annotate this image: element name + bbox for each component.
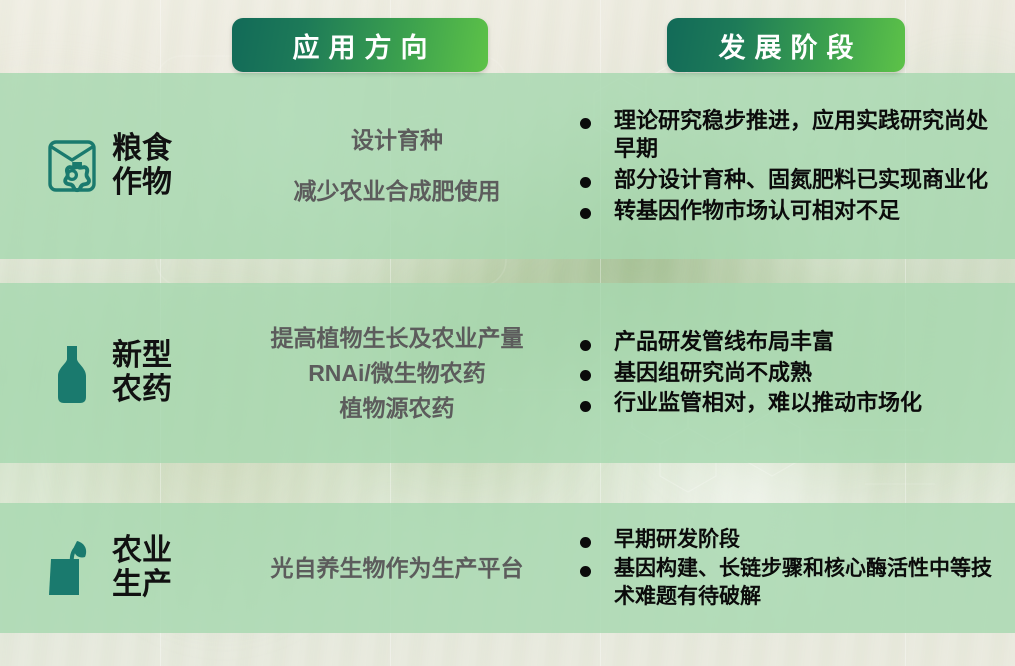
category-cell: 农业 生产 xyxy=(0,534,232,601)
list-item: 部分设计育种、固氮肥料已实现商业化 xyxy=(570,166,1005,195)
category-cell: 新型 农药 xyxy=(0,339,232,406)
list-item: 理论研究稳步推进，应用实践研究尚处早期 xyxy=(570,107,1005,164)
table-row: 新型 农药 提高植物生长及农业产量 RNAi/微生物农药 植物源农药 产品研发管… xyxy=(0,283,1015,463)
category-label: 农业 生产 xyxy=(112,534,172,601)
application-item: 提高植物生长及农业产量 xyxy=(232,327,562,350)
stage-cell: 早期研发阶段 基因构建、长链步骤和核心酶活性中等技术难题有待破解 xyxy=(562,526,1015,610)
application-item: 设计育种 xyxy=(232,129,562,152)
stage-list: 理论研究稳步推进，应用实践研究尚处早期 部分设计育种、固氮肥料已实现商业化 转基… xyxy=(570,107,1005,225)
stage-list: 早期研发阶段 基因构建、长链步骤和核心酶活性中等技术难题有待破解 xyxy=(570,526,1005,610)
application-item: 减少农业合成肥使用 xyxy=(232,180,562,203)
application-cell: 设计育种 减少农业合成肥使用 xyxy=(232,129,562,203)
category-label: 粮食 作物 xyxy=(112,132,172,199)
list-item: 基因构建、长链步骤和核心酶活性中等技术难题有待破解 xyxy=(570,555,1005,610)
seed-packet-icon xyxy=(44,137,100,195)
header-badge-development-stage: 发展阶段 xyxy=(667,18,905,72)
category-label: 新型 农药 xyxy=(112,339,172,406)
header-badge-application-direction: 应用方向 xyxy=(232,18,488,72)
application-item: 光自养生物作为生产平台 xyxy=(232,557,562,580)
list-item: 基因组研究尚不成熟 xyxy=(570,359,1005,388)
list-item: 早期研发阶段 xyxy=(570,526,1005,553)
list-item: 转基因作物市场认可相对不足 xyxy=(570,197,1005,226)
application-cell: 提高植物生长及农业产量 RNAi/微生物农药 植物源农药 xyxy=(232,327,562,420)
sprout-block-icon xyxy=(44,535,100,601)
table-row: 农业 生产 光自养生物作为生产平台 早期研发阶段 基因构建、长链步骤和核心酶活性… xyxy=(0,503,1015,633)
stage-list: 产品研发管线布局丰富 基因组研究尚不成熟 行业监管相对，难以推动市场化 xyxy=(570,328,1005,418)
table-row: 粮食 作物 设计育种 减少农业合成肥使用 理论研究稳步推进，应用实践研究尚处早期… xyxy=(0,73,1015,259)
category-cell: 粮食 作物 xyxy=(0,132,232,199)
bottle-icon xyxy=(44,342,100,404)
application-cell: 光自养生物作为生产平台 xyxy=(232,557,562,580)
stage-cell: 产品研发管线布局丰富 基因组研究尚不成熟 行业监管相对，难以推动市场化 xyxy=(562,328,1015,418)
application-item: 植物源农药 xyxy=(232,397,562,420)
list-item: 行业监管相对，难以推动市场化 xyxy=(570,389,1005,418)
application-item: RNAi/微生物农药 xyxy=(232,362,562,385)
stage-cell: 理论研究稳步推进，应用实践研究尚处早期 部分设计育种、固氮肥料已实现商业化 转基… xyxy=(562,107,1015,225)
list-item: 产品研发管线布局丰富 xyxy=(570,328,1005,357)
